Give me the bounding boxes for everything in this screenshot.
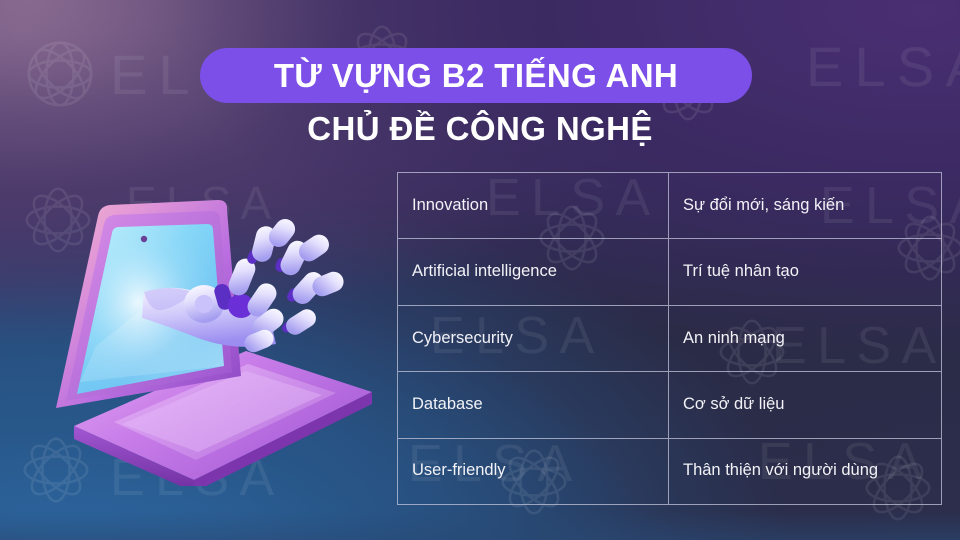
table-row: Artificial intelligence Trí tuệ nhân tạo: [398, 239, 941, 305]
vocab-meaning: An ninh mạng: [669, 306, 941, 371]
vocab-meaning: Cơ sở dữ liệu: [669, 372, 941, 437]
table-row: Cybersecurity An ninh mạng: [398, 306, 941, 372]
page-subtitle: CHỦ ĐỀ CÔNG NGHỆ: [0, 108, 960, 150]
vocab-term: Cybersecurity: [398, 306, 669, 371]
vocab-term: User-friendly: [398, 439, 669, 504]
vocab-meaning: Sự đổi mới, sáng kiến: [669, 173, 941, 238]
table-row: User-friendly Thân thiện với người dùng: [398, 439, 941, 505]
title-badge: TỪ VỰNG B2 TIẾNG ANH: [200, 48, 752, 103]
vocab-term: Database: [398, 372, 669, 437]
vocabulary-table: Innovation Sự đổi mới, sáng kiến Artific…: [397, 172, 942, 505]
laptop-with-robot-hand-illustration: [36, 196, 386, 486]
vocab-term: Innovation: [398, 173, 669, 238]
table-row: Database Cơ sở dữ liệu: [398, 372, 941, 438]
page-title: TỪ VỰNG B2 TIẾNG ANH: [274, 59, 678, 92]
table-row: Innovation Sự đổi mới, sáng kiến: [398, 173, 941, 239]
vocab-meaning: Thân thiện với người dùng: [669, 439, 941, 504]
background-bottom-fade: [0, 510, 960, 540]
vocab-term: Artificial intelligence: [398, 239, 669, 304]
elsa-watermark-text: ELSA: [806, 34, 960, 99]
vocab-meaning: Trí tuệ nhân tạo: [669, 239, 941, 304]
